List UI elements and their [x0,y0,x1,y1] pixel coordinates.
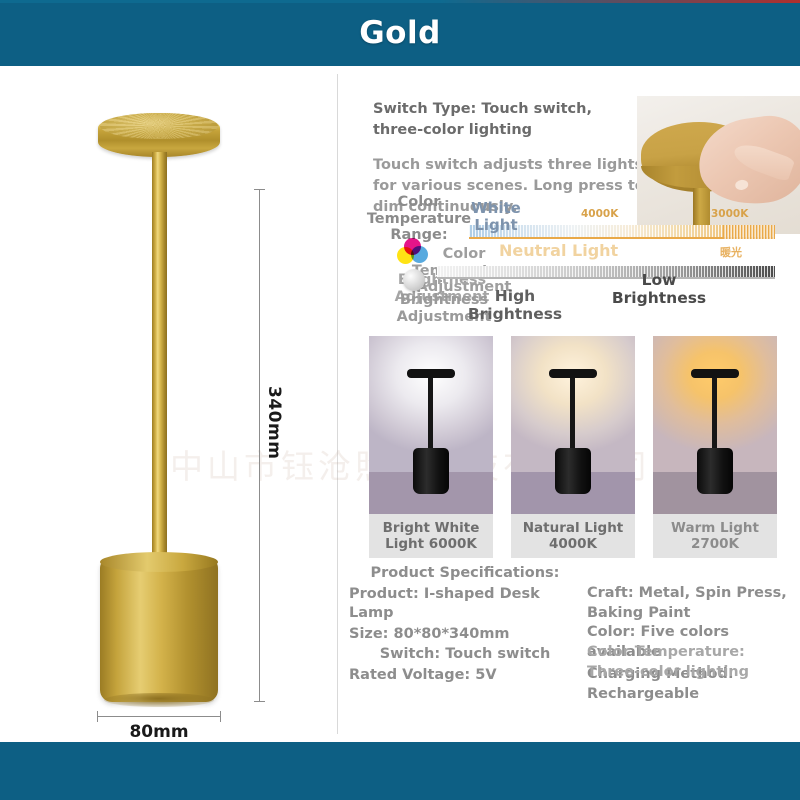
lamp-stem [152,152,167,564]
scene-card-cool-white: Bright White Light 6000K [369,336,493,558]
product-infographic-page: Gold 中山市钰沧照明科技有限公司 340mm 80mm Switch Typ… [0,0,800,800]
details-panel: Switch Type: Touch switch, three-color l… [337,66,800,742]
finger-icon [731,139,796,182]
color-temperature-range-label: Color Temperature Range: [359,194,479,244]
scene-card-warm: Warm Light 2700K [653,336,777,558]
lamp-shade-disc [98,113,220,157]
lamp-base [100,558,218,702]
scene-image-natural [511,336,635,514]
height-dimension-line [259,189,260,702]
mini-lamp-top [407,369,455,378]
spec-switch: Switch: Touch switch [349,645,581,664]
mini-lamp-base [555,448,591,494]
mini-lamp-stem [428,378,433,454]
tick-4000k: 4000K [581,208,618,220]
brightness-slider-knob[interactable] [403,269,425,291]
cmy-color-circles-icon [397,238,431,264]
spec-craft: Craft: Metal, Spin Press, Baking Paint [587,584,800,623]
neutral-light-label: Neutral Light [499,241,618,260]
high-brightness-label: High Brightness [455,288,575,324]
mini-lamp-stem [570,378,575,454]
lighting-scene-gallery: Bright White Light 6000K Natural Light 4… [369,336,799,558]
mini-lamp-stem [712,378,717,454]
spec-product: Product: I-shaped Desk Lamp [349,585,581,623]
spec-color-temperature: Color Temperature: Three-color lighting [587,643,800,682]
switch-type-title: Switch Type: Touch switch, three-color l… [373,99,645,141]
specs-left-column: Product Specifications: Product: I-shape… [349,564,581,685]
warm-light-label-cn: 暖光 [720,244,742,260]
scene-image-warm [653,336,777,514]
specs-right-column: Craft: Metal, Spin Press, Baking Paint C… [587,584,800,704]
cyan-circle [411,246,428,263]
cool-light-label: White Light [465,200,527,233]
scene-caption: Natural Light 4000K [511,514,635,558]
low-brightness-label: Low Brightness [599,272,719,308]
fingernail-detail [735,179,749,191]
mini-lamp-base [697,448,733,494]
product-photo-panel: 340mm 80mm [0,66,337,742]
specs-heading: Product Specifications: [349,564,581,583]
tick-3000k: 3000K [711,208,748,220]
content-area: 中山市钰沧照明科技有限公司 340mm 80mm Switch Type: To… [0,66,800,742]
spec-size: Size: 80*80*340mm [349,625,581,644]
width-dimension-line [97,716,221,717]
width-dimension-label: 80mm [97,722,221,742]
mini-lamp-top [691,369,739,378]
mini-lamp-base [413,448,449,494]
page-title: Gold [0,0,800,66]
height-dimension-label: 340mm [264,386,284,459]
scene-caption: Bright White Light 6000K [369,514,493,558]
mini-lamp-top [549,369,597,378]
spec-overlap-group: Color: Five colors available Color Tempe… [587,623,800,665]
scene-caption: Warm Light 2700K [653,514,777,558]
spec-voltage: Rated Voltage: 5V [349,666,581,685]
footer-decorative-band [0,742,800,800]
scene-image-cool-white [369,336,493,514]
scene-card-natural: Natural Light 4000K [511,336,635,558]
